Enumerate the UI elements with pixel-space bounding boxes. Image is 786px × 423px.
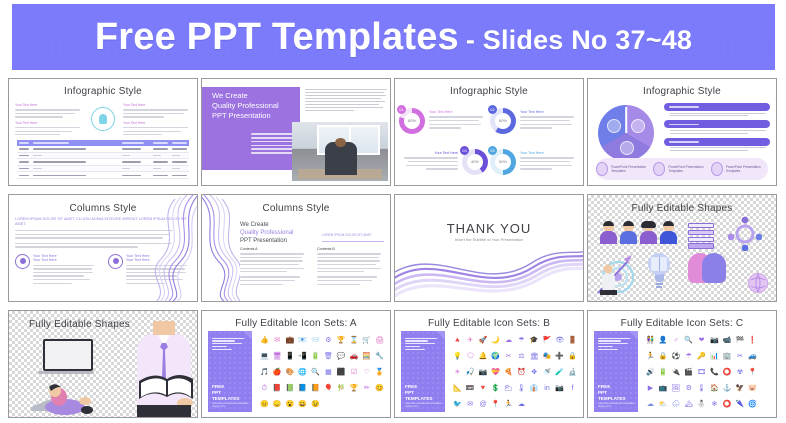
calculator-icon: 🧮 — [362, 353, 371, 360]
mountain-icon: 🏔 — [684, 401, 693, 408]
thermometer-icon: 🌡 — [697, 385, 706, 392]
content-bar-3 — [664, 138, 770, 146]
slide-7-title: THANK YOU — [395, 221, 583, 236]
balloon-icon: 🎈 — [324, 385, 333, 392]
slide-1-col-left: Your Text Here Your Text Here — [15, 103, 83, 138]
donut-item-2: 60% 02 Your Text Here — [490, 101, 579, 140]
snowflake-icon: ❄ — [711, 401, 717, 408]
slide-8-title: Fully Editable Shapes — [588, 203, 776, 214]
globe-shape — [748, 273, 768, 293]
wink-face-icon: 😉 — [311, 401, 320, 408]
cart-icon: 🛒 — [362, 337, 371, 344]
icon-set-grid-c: 👫👤 ♂🔍 ❤📷 📹🏁 ❗ 🏃🔒 ⚽☂ 🔑📊 🏢✂ 🚙 🔊🔋 🔌🎬 🎞📞 ⭕☢ … — [644, 333, 772, 412]
slide-1-heading-1: Your Text Here — [15, 103, 83, 107]
move-icon: ✥ — [531, 369, 537, 376]
cloud-sun-icon: ⛅ — [659, 401, 668, 408]
masks-icon: 🎭 — [543, 353, 552, 360]
video-camera-icon: 📹 — [723, 337, 732, 344]
donut-label-5: Your Text Here — [520, 151, 579, 155]
donut-chart-3: 40% 03 — [462, 149, 488, 175]
slide-5-title: Columns Style — [9, 203, 197, 214]
printer-icon — [653, 162, 665, 176]
twitter-icon: 🐦 — [453, 401, 462, 408]
sidebar-brand: FREE PPT TEMPLATES — [405, 384, 432, 402]
slide-2-canvas: We Create Quality Professional PPT Prese… — [202, 79, 390, 185]
shower-icon: 🚿 — [543, 369, 552, 376]
slide-6-rule-label: LOREM IPSUM DOLOR SIT AMET — [322, 233, 372, 237]
battery-icon: 🔋 — [659, 369, 668, 376]
man-with-tie-reading-book-shape — [133, 321, 195, 417]
circle-icon — [108, 254, 123, 269]
person-shape — [600, 221, 617, 244]
slide-thumbnail-1[interactable]: Infographic Style Your Text Here Your Te… — [8, 78, 198, 186]
slide-6-canvas: Columns Style We Create Quality Professi… — [202, 195, 390, 301]
award-icon: 🏆 — [350, 385, 359, 392]
globe-icon: 🌐 — [298, 369, 307, 376]
slide-11-title: Fully Editable Icon Sets: B — [395, 318, 583, 329]
printer-icon: 🖨 — [375, 337, 384, 344]
necktie-icon: 👔 — [530, 385, 539, 392]
neutral-face-icon: 😐 — [260, 401, 269, 408]
books-stack-shape — [688, 223, 714, 250]
sidebar-text — [212, 336, 247, 352]
chat-icon: 💬 — [337, 353, 346, 360]
slide-5-canvas: Columns Style LOREM IPSUM DOLOR SIT AMET… — [9, 195, 197, 301]
cloud-icon: ☁ — [647, 401, 654, 408]
slide-1-columns: Your Text Here Your Text Here Your Text … — [15, 103, 191, 138]
slide-4-title: Infographic Style — [588, 86, 776, 97]
book-red-icon: 📕 — [273, 385, 282, 392]
slide-6-col-1: Contents A — [240, 247, 307, 287]
banner-sub-text: - Slides No 37~48 — [466, 25, 692, 55]
thermometer-icon: 🌡 — [517, 385, 526, 392]
content-bar-1 — [664, 103, 770, 111]
book-orange-icon: 📙 — [311, 385, 320, 392]
table-row — [17, 153, 189, 160]
slide-4-content-bars — [664, 103, 770, 155]
alarm-clock-icon: ⏰ — [517, 369, 526, 376]
header-banner: Free PPT Templates- Slides No 37~48 — [12, 4, 775, 70]
umbrella-icon: ☂ — [518, 337, 524, 344]
plus-icon: ➕ — [555, 353, 564, 360]
sun-icon: ☀ — [454, 369, 460, 376]
palette-icon: 🎨 — [286, 369, 295, 376]
mail-icon: ✉ — [467, 401, 473, 408]
tv-icon: 📺 — [659, 385, 668, 392]
scissors-icon: ✂ — [506, 353, 512, 360]
lightbulb-icon: 💡 — [453, 353, 462, 360]
cloud-sun-icon: 🌥 — [504, 385, 513, 392]
slide-4-footer-pill: PowerPoint Presentation Templates PowerP… — [596, 158, 768, 180]
umbrella-icon: ☂ — [686, 353, 692, 360]
slide-thumbnail-12[interactable]: Fully Editable Icon Sets: C FREE PPT TEM… — [587, 310, 777, 418]
pin-icon: 📍 — [748, 369, 757, 376]
at-icon: @ — [479, 401, 486, 408]
runner-icon: 🏃 — [504, 401, 513, 408]
music-icon: 🎵 — [260, 369, 269, 376]
footer-item-2: PowerPoint Presentation Templates — [653, 162, 710, 176]
snowman-icon: ⛄ — [697, 401, 706, 408]
circle-outline-icon: ⭕ — [723, 401, 732, 408]
car-icon: 🚗 — [350, 353, 359, 360]
radiation-icon: ☢ — [737, 369, 743, 376]
surprised-face-icon: 😮 — [286, 401, 295, 408]
battery-icon: 🔋 — [311, 353, 320, 360]
apple-icon: 🍎 — [273, 369, 282, 376]
two-heads-shape — [688, 253, 728, 283]
medal-icon: 🏅 — [375, 369, 384, 376]
person-icon: 👤 — [659, 337, 668, 344]
slide-7-subtitle: Insert the Subtitle of Your Presentation — [395, 237, 583, 242]
slide-11-canvas: Fully Editable Icon Sets: B FREE PPT TEM… — [395, 311, 583, 417]
donut-item-1: 80% 01 Your Text Here — [399, 101, 488, 140]
gear-icon: ⚙ — [325, 337, 331, 344]
happy-face-icon: 😀 — [298, 401, 307, 408]
gear-icon: ⚙ — [686, 385, 692, 392]
slide-2-heading: We Create Quality Professional PPT Prese… — [212, 91, 279, 121]
anchor-icon: ⚓ — [723, 385, 732, 392]
man-with-target-shape — [594, 251, 642, 297]
sidebar-text — [598, 336, 633, 352]
flag-icon: 🏁 — [736, 337, 745, 344]
slide-12-title: Fully Editable Icon Sets: C — [588, 318, 776, 329]
scissors-icon: ✂ — [737, 353, 743, 360]
bank-icon: 🏛 — [530, 353, 539, 360]
laptop-icon: 💻 — [260, 353, 269, 360]
slide-1-col-right: Your Text Here Your Text Here — [123, 103, 191, 138]
slide-thumbnail-5[interactable]: Columns Style LOREM IPSUM DOLOR SIT AMET… — [8, 194, 198, 302]
triangle-icon: 🔺 — [453, 337, 462, 344]
slide-thumbnail-3[interactable]: Infographic Style 80% 01 Your Text Here — [394, 78, 584, 186]
ppt-template-preview-page: Free PPT Templates- Slides No 37~48 Info… — [0, 0, 786, 423]
slide-11-brand-sidebar: FREE PPT TEMPLATES www.free-powerpoint-t… — [401, 331, 445, 412]
house-icon: 🏠 — [710, 385, 719, 392]
sad-face-icon: 😞 — [273, 401, 282, 408]
book-green-icon: 📗 — [286, 385, 295, 392]
videotape-icon: 📼 — [466, 385, 475, 392]
graduation-cap-icon: 🎓 — [530, 337, 539, 344]
runner-icon: 🏃 — [646, 353, 655, 360]
play-icon: ▶ — [648, 385, 653, 392]
circle-icon: ⭕ — [723, 369, 732, 376]
pizza-icon: 🍕 — [504, 369, 513, 376]
building-icon: 🏢 — [723, 353, 732, 360]
earth-icon: 🌍 — [491, 353, 500, 360]
cloud-icon: ☁ — [505, 337, 512, 344]
flask-icon: 🧪 — [555, 369, 564, 376]
slide-4-canvas: Infographic Style Po — [588, 79, 776, 185]
smile-icon: 😊 — [375, 385, 384, 392]
camera-icon: 📷 — [710, 337, 719, 344]
donut-item-5: 50% 05 Your Text Here — [490, 142, 579, 181]
slide-6-col-1-heading: Contents A — [240, 247, 307, 251]
footer-item-3: PowerPoint Presentation Templates — [711, 162, 768, 176]
donut-label-2: Your Text Here — [520, 110, 579, 114]
slide-10-brand-sidebar: FREE PPT TEMPLATES www.free-powerpoint-t… — [208, 331, 252, 412]
pencil-icon: ✏ — [364, 385, 370, 392]
slide-8-canvas: Fully Editable Shapes — [588, 195, 776, 301]
slide-1-heading-3: Your Text Here — [123, 103, 191, 107]
slide-6-columns: Contents A Contents B — [240, 247, 384, 287]
puzzle-icon — [631, 119, 645, 133]
donut-label-3: Your Text Here — [399, 151, 458, 155]
slide-9-canvas: Fully Editable Shapes — [9, 311, 197, 417]
instagram-icon: 📷 — [555, 385, 564, 392]
pin-icon: 📍 — [491, 401, 500, 408]
circle-icon — [15, 254, 30, 269]
trash-icon: 🗑 — [324, 353, 333, 360]
banner-title: Free PPT Templates- Slides No 37~48 — [95, 16, 692, 59]
slide-5-col-1-sub: Your Text Here — [33, 258, 98, 263]
ruler-icon: 📐 — [453, 385, 462, 392]
icon-set-grid-a: 👍✉ 💼📧 📨⚙ 🏆⌛ 🛒🖨 💻🖥 📱📲 🔋🗑 💬🚗 🧮🔧 🎵🍎 🎨🌐 🔍▦ ⬛… — [258, 333, 386, 412]
slide-5-body — [15, 230, 191, 248]
slide-5-col-2: Your Text Here Your Text Here — [108, 254, 191, 287]
lightbulb-icon — [91, 107, 115, 131]
facebook-icon: f — [572, 385, 574, 392]
eye-icon: 👁 — [555, 337, 564, 344]
sidebar-url: www.free-powerpoint-templates-design.com — [405, 402, 445, 408]
hourglass-icon: ⌛ — [350, 337, 359, 344]
envelope-icon: ✉ — [274, 337, 280, 344]
slide-5-col-1: Your Text Here Your Text Here — [15, 254, 98, 287]
table-row — [17, 166, 189, 173]
lightbulb-book-shape — [648, 253, 670, 283]
speaker-icon: 🔊 — [646, 369, 655, 376]
refresh-icon — [711, 162, 723, 176]
phone-icon: 📱 — [286, 353, 295, 360]
slide-12-canvas: Fully Editable Icon Sets: C FREE PPT TEM… — [588, 311, 776, 417]
slide-1-heading-2: Your Text Here — [15, 121, 83, 125]
lock-icon — [607, 119, 621, 133]
donut-chart-1: 80% 01 — [399, 108, 425, 134]
film-icon: 🎬 — [684, 369, 693, 376]
slide-7-canvas: THANK YOU Insert the Subtitle of Your Pr… — [395, 195, 583, 301]
umbrella-closed-icon: 🌂 — [736, 401, 745, 408]
briefcase-icon: 💼 — [286, 337, 295, 344]
flag-icon: 🚩 — [543, 337, 552, 344]
bell-icon: 🔔 — [479, 353, 488, 360]
slide-6-heading: We Create Quality Professional PPT Prese… — [240, 221, 293, 245]
pig-icon: 🐷 — [748, 385, 757, 392]
monitor-icon: 🖥 — [273, 353, 282, 360]
soccer-ball-icon: ⚽ — [672, 353, 681, 360]
person-shape — [640, 221, 657, 244]
slide-2-right-text — [305, 87, 387, 113]
linkedin-icon: in — [544, 385, 549, 392]
tablet-icon: 📲 — [298, 353, 307, 360]
icon-set-grid-b: 🔺✈ 🚀🌙 ☁☂ 🎓🚩 👁🚪 💡🗨 🔔🌍 ✂⚖ 🏛🎭 ➕🔒 ☀🎣 📷💝 🍕⏰ ✥… — [451, 333, 579, 412]
slide-10-title: Fully Editable Icon Sets: A — [202, 318, 390, 329]
slide-10-canvas: Fully Editable Icon Sets: A FREE PPT TEM… — [202, 311, 390, 417]
fishing-icon: 🎣 — [466, 369, 475, 376]
laptop-shape — [43, 339, 94, 374]
sidebar-url: www.free-powerpoint-templates-design.com — [212, 402, 252, 408]
sidebar-brand: FREE PPT TEMPLATES — [212, 384, 239, 402]
slide-thumbnail-9[interactable]: Fully Editable Shapes — [8, 310, 198, 418]
lock-icon: 🔒 — [568, 353, 577, 360]
speech-bubble-icon: 🗨 — [466, 353, 475, 360]
table-row — [17, 159, 189, 166]
donut-chart-5: 50% 05 — [490, 149, 516, 175]
content-bar-2 — [664, 120, 770, 128]
search-icon: 🔍 — [311, 369, 320, 376]
footer-label-1: PowerPoint Presentation Templates — [611, 165, 653, 173]
slide-6-col-2-heading: Contents B — [317, 247, 384, 251]
woman-with-laptop-shape — [29, 377, 101, 417]
donut-label-1: Your Text Here — [429, 110, 488, 114]
plant-icon: 🎋 — [337, 385, 346, 392]
lock-icon: 🔒 — [659, 353, 668, 360]
search-icon: 🔍 — [684, 337, 693, 344]
network-diagram-shape — [728, 217, 762, 251]
table-row — [17, 172, 189, 179]
slide-5-subtitle: LOREM IPSUM DOLOR SIT AMET, CU USU ADMIA… — [15, 217, 191, 227]
thumbs-up-icon: 👍 — [260, 337, 269, 344]
slide-thumbnail-8[interactable]: Fully Editable Shapes — [587, 194, 777, 302]
footer-label-3: PowerPoint Presentation Templates — [726, 165, 768, 173]
cloud-icon: ☁ — [518, 401, 525, 408]
car-icon: 🚙 — [748, 353, 757, 360]
slide-thumbnail-10[interactable]: Fully Editable Icon Sets: A FREE PPT TEM… — [201, 310, 391, 418]
plug-icon: 🔌 — [672, 369, 681, 376]
slide-1-title: Infographic Style — [9, 86, 197, 97]
gift-heart-icon: 💝 — [491, 369, 500, 376]
dollar-icon: 💲 — [491, 385, 500, 392]
sidebar-url: www.free-powerpoint-templates-design.com — [598, 402, 638, 408]
bird-icon: 🦅 — [736, 385, 745, 392]
slide-5-columns: Your Text Here Your Text Here Your Text … — [15, 254, 191, 287]
inbox-icon: 📨 — [311, 337, 320, 344]
mail-icon: 📧 — [298, 337, 307, 344]
exclamation-icon: ❗ — [748, 337, 757, 344]
sidebar-text — [405, 336, 440, 352]
slide-thumbnail-11[interactable]: Fully Editable Icon Sets: B FREE PPT TEM… — [394, 310, 584, 418]
slide-thumbnail-4[interactable]: Infographic Style Po — [587, 78, 777, 186]
filmstrip-icon: 🎞 — [697, 369, 706, 376]
microscope-icon: 🔬 — [568, 369, 577, 376]
refresh-icon — [620, 141, 634, 155]
divider — [322, 241, 384, 242]
footer-item-1: PowerPoint Presentation Templates — [596, 162, 653, 176]
person-shape — [660, 221, 677, 244]
slide-3-charts: 80% 01 Your Text Here 60% — [399, 101, 579, 181]
camera-icon: 📷 — [479, 369, 488, 376]
heart-icon: ♡ — [364, 369, 370, 376]
stopwatch-icon: ⏱ — [262, 385, 267, 392]
heart-icon: ❤ — [699, 337, 705, 344]
slide-1-heading-4: Your Text Here — [123, 121, 191, 125]
businessman-at-desk-photo — [292, 122, 388, 181]
image-icon: 🖼 — [672, 385, 681, 392]
slide-thumbnail-6[interactable]: Columns Style We Create Quality Professi… — [201, 194, 391, 302]
person-shape — [620, 221, 637, 244]
chart-icon: 📊 — [710, 353, 719, 360]
checkbox-icon: ☑ — [351, 369, 357, 376]
slide-12-brand-sidebar: FREE PPT TEMPLATES www.free-powerpoint-t… — [594, 331, 638, 412]
slide-1-canvas: Infographic Style Your Text Here Your Te… — [9, 79, 197, 185]
rain-cloud-icon: 🌧 — [672, 401, 681, 408]
puzzle-icon — [596, 162, 608, 176]
donut-item-3: 40% 03 Your Text Here — [399, 142, 488, 181]
footer-label-2: PowerPoint Presentation Templates — [668, 165, 710, 173]
wrench-icon: 🔧 — [375, 353, 384, 360]
sidebar-brand: FREE PPT TEMPLATES — [598, 384, 625, 402]
slide-6-col-2: Contents B — [317, 247, 384, 287]
segmented-circle-diagram — [598, 105, 654, 161]
spiral-icon: 🌀 — [748, 401, 757, 408]
book-blue-icon: 📘 — [298, 385, 307, 392]
slide-3-title: Infographic Style — [395, 86, 583, 97]
slide-thumbnail-grid: Infographic Style Your Text Here Your Te… — [8, 78, 780, 418]
scales-icon: ⚖ — [518, 353, 524, 360]
phone-icon: 📞 — [710, 369, 719, 376]
rocket-icon: 🚀 — [479, 337, 488, 344]
grid-icon: ▦ — [325, 369, 332, 376]
donut-chart-2: 60% 02 — [490, 108, 516, 134]
male-icon: ♂ — [673, 337, 678, 344]
square-icon: ⬛ — [337, 369, 346, 376]
purple-wave-graphic — [395, 241, 583, 301]
slide-thumbnail-7[interactable]: THANK YOU Insert the Subtitle of Your Pr… — [394, 194, 584, 302]
table-row — [17, 146, 189, 153]
moon-icon: 🌙 — [491, 337, 500, 344]
down-triangle-icon: 🔻 — [479, 385, 488, 392]
slide-3-canvas: Infographic Style 80% 01 Your Text Here — [395, 79, 583, 185]
slide-1-table — [17, 140, 189, 179]
slide-thumbnail-2[interactable]: We Create Quality Professional PPT Prese… — [201, 78, 391, 186]
door-icon: 🚪 — [568, 337, 577, 344]
slide-6-title: Columns Style — [202, 203, 390, 214]
banner-main-text: Free PPT Templates — [95, 16, 459, 58]
key-icon: 🔑 — [697, 353, 706, 360]
trophy-icon: 🏆 — [337, 337, 346, 344]
airplane-icon: ✈ — [467, 337, 473, 344]
slide-5-col-2-sub: Your Text Here — [126, 258, 191, 263]
people-icon: 👫 — [646, 337, 655, 344]
